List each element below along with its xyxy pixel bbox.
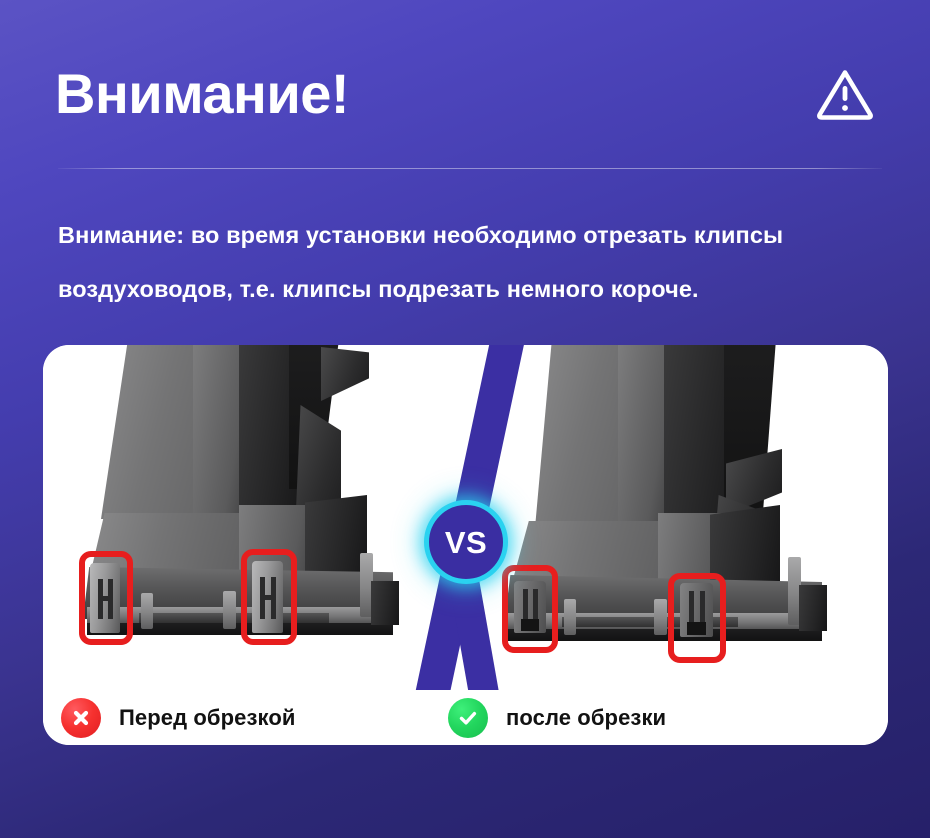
versus-label: VS xyxy=(445,527,487,558)
highlight-box-clip-left xyxy=(79,551,133,645)
header-divider xyxy=(58,168,882,169)
caption-before-label: Перед обрезкой xyxy=(119,705,296,731)
caption-row: Перед обрезкой после обрезки xyxy=(43,690,888,745)
caption-after: после обрезки xyxy=(448,694,666,742)
warning-description: Внимание: во время установки необходимо … xyxy=(58,208,888,316)
check-icon xyxy=(448,698,488,738)
highlight-box-clip-right xyxy=(241,549,297,645)
warning-infographic: Внимание! Внимание: во время установки н… xyxy=(0,0,930,838)
highlight-box-clip-right xyxy=(668,573,726,663)
comparison-panel: VS Перед обрезкой xyxy=(43,345,888,745)
page-title: Внимание! xyxy=(55,66,349,122)
warning-triangle-icon xyxy=(814,63,876,125)
caption-before: Перед обрезкой xyxy=(61,694,296,742)
comparison-area: VS Перед обрезкой xyxy=(43,345,888,745)
versus-badge: VS xyxy=(424,500,508,584)
photo-before-trim xyxy=(43,345,473,700)
cross-icon xyxy=(61,698,101,738)
highlight-box-clip-left xyxy=(502,565,558,653)
header: Внимание! xyxy=(55,48,882,140)
photo-after-trim xyxy=(458,345,888,700)
caption-after-label: после обрезки xyxy=(506,705,666,731)
